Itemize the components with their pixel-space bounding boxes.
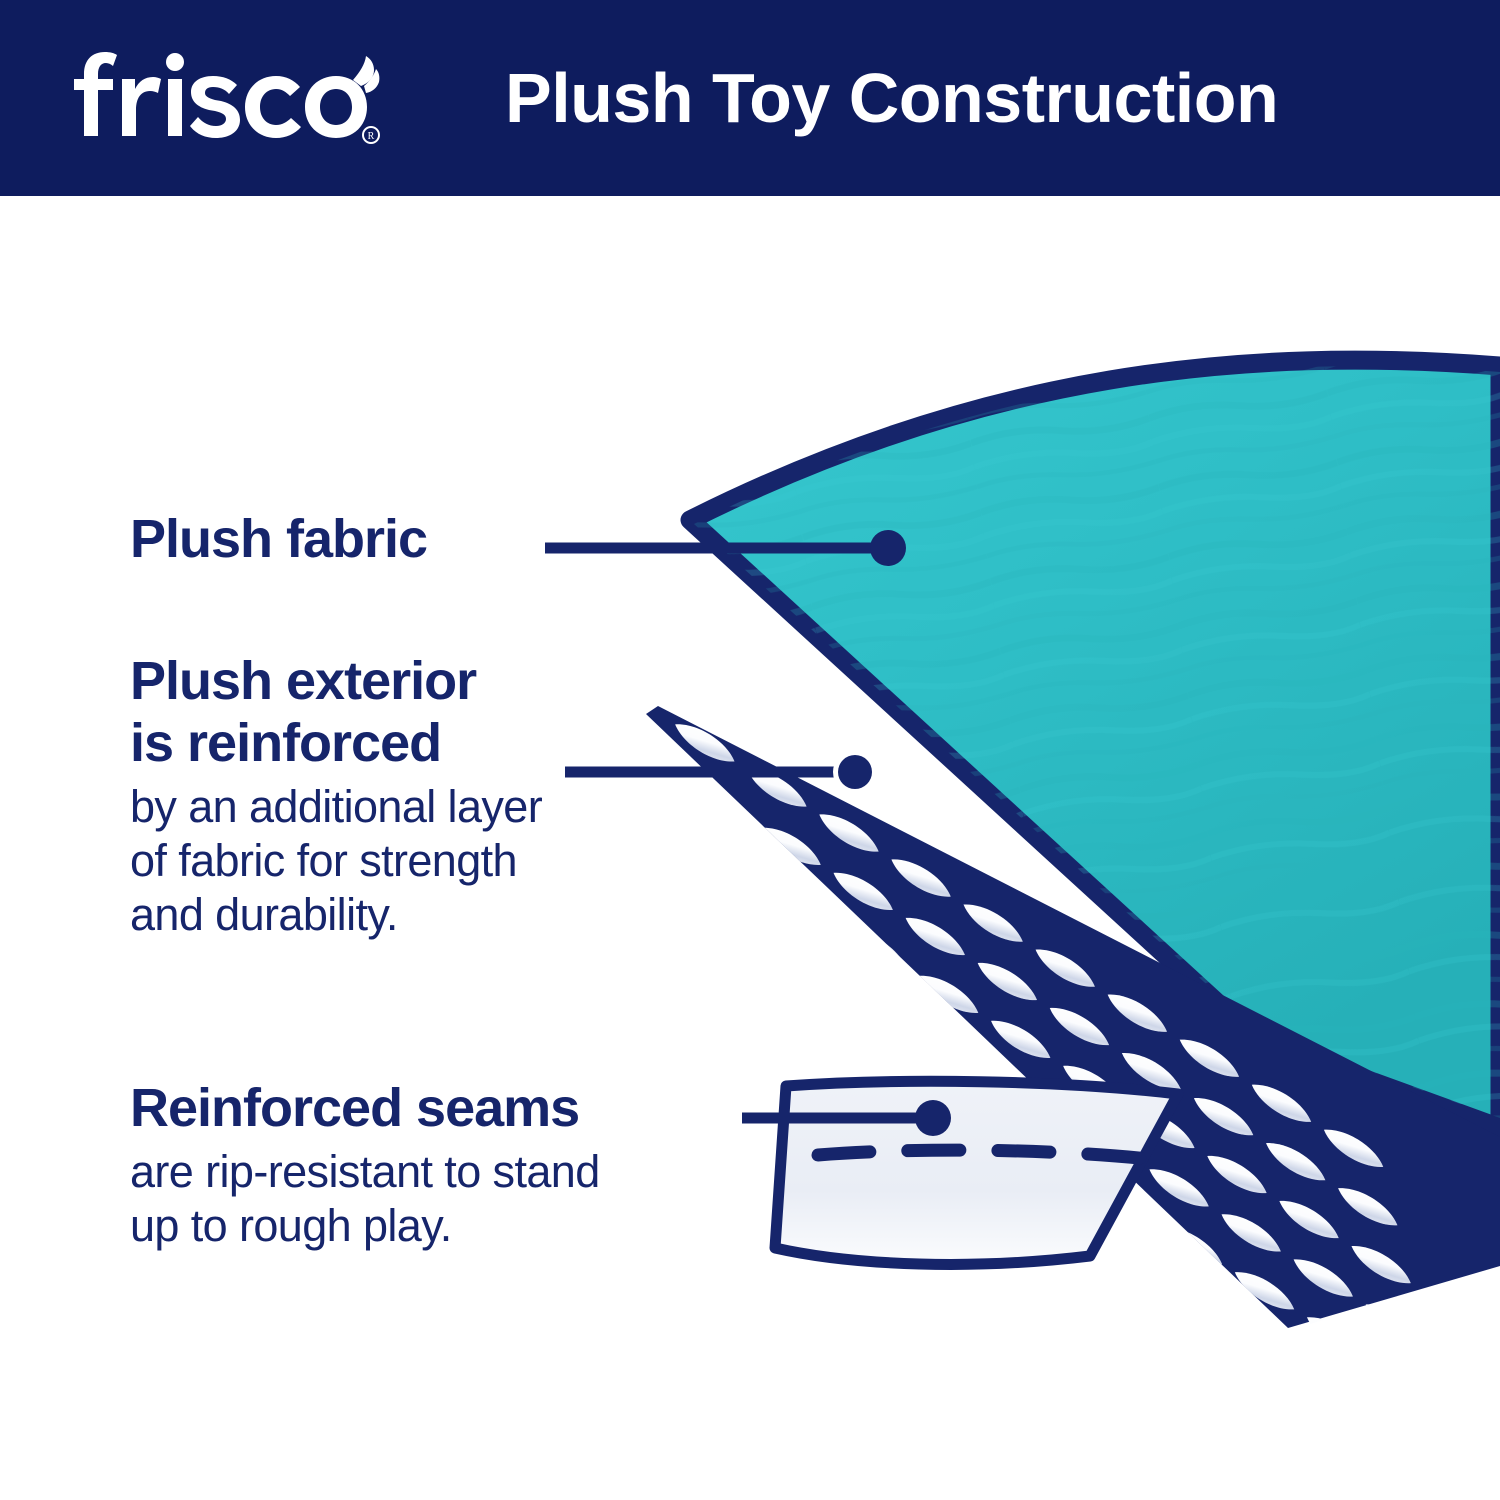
callout-body-line-3: and durability. (130, 888, 542, 942)
callout-heading-line-2: is reinforced (130, 712, 542, 774)
callout-body-line-1: are rip-resistant to stand (130, 1145, 600, 1199)
seam-stitch-dashes (818, 1150, 1158, 1160)
callout-body-line-2: up to rough play. (130, 1199, 600, 1253)
page-title: Plush Toy Construction (505, 48, 1278, 148)
callout-body-line-1: by an additional layer (130, 780, 542, 834)
leader-plush-exterior (565, 750, 877, 794)
plush-fabric-teal-panel (640, 340, 1500, 1160)
callout-leader-lines (545, 530, 951, 1136)
callout-body-line-2: of fabric for strength (130, 834, 542, 888)
callout-heading-line-1: Plush exterior (130, 650, 542, 712)
frisco-wordmark-logo: R (72, 50, 382, 150)
reinforced-seam-flap (775, 1081, 1178, 1264)
callout-plush-fabric: Plush fabric (130, 508, 427, 570)
leader-reinforced-seams (742, 1100, 951, 1136)
svg-text:R: R (368, 131, 375, 142)
callout-reinforced-seams: Reinforced seams are rip-resistant to st… (130, 1077, 600, 1253)
plush-fabric-texture (640, 340, 1500, 1160)
marker-dot-plush-fabric (870, 530, 906, 566)
header-bar: R Plush Toy Construction (0, 0, 1500, 196)
frisco-logo-svg: R (72, 50, 382, 150)
callout-heading-plush-fabric: Plush fabric (130, 508, 427, 570)
leader-plush-fabric (545, 530, 906, 566)
marker-dot-plush-exterior (838, 755, 872, 789)
callout-heading-reinforced-seams: Reinforced seams (130, 1077, 600, 1139)
infographic-page: R Plush Toy Construction (0, 0, 1500, 1500)
callout-plush-exterior: Plush exterior is reinforced by an addit… (130, 650, 542, 942)
reinforcement-mesh-band (523, 694, 1500, 1466)
marker-dot-reinforced-seams (915, 1100, 951, 1136)
registered-mark-icon: R (363, 127, 379, 143)
